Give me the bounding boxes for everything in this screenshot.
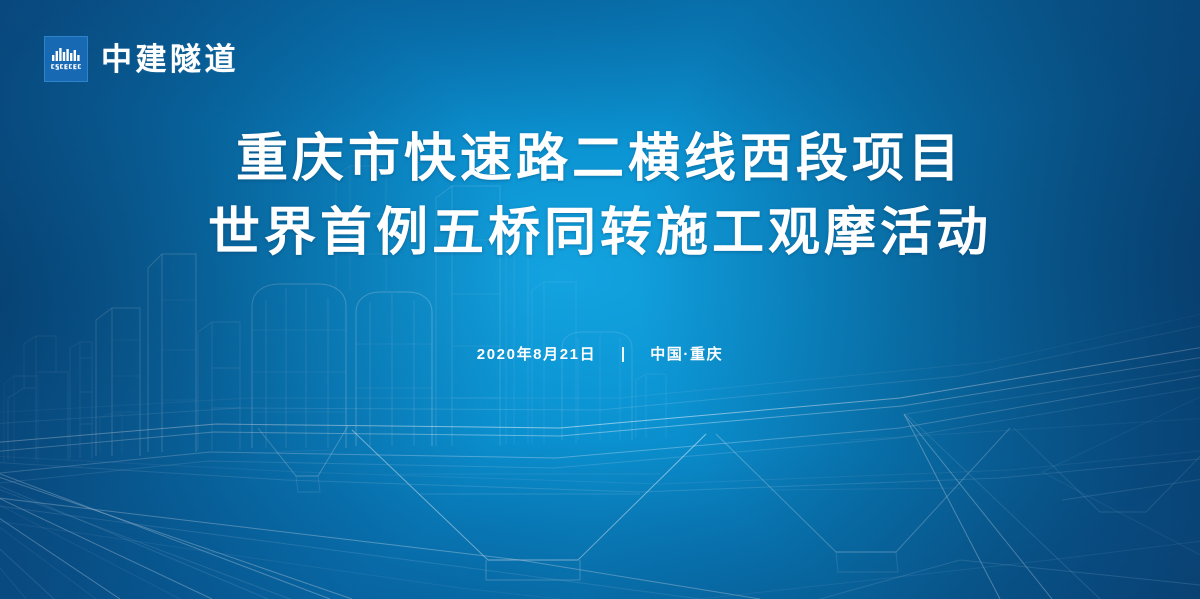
brand-logo: 中建隧道: [44, 36, 239, 82]
meta-separator: [622, 347, 624, 362]
bridge-deck-wireframe: [0, 312, 1200, 484]
cscec-logo-mark: [44, 36, 88, 82]
edge-vignette: [0, 0, 1200, 599]
event-location: 中国·重庆: [650, 347, 723, 362]
perspective-road-lines: [0, 450, 1200, 599]
wireframe-artwork: [0, 0, 1200, 599]
brand-wordmark: 中建隧道: [101, 44, 239, 75]
right-polygon-lines: [700, 368, 1200, 599]
bridge-pier-triangles: [258, 426, 1200, 580]
headline-line-2: 世界首例五桥同转施工观摩活动: [0, 200, 1200, 268]
poster-headline: 重庆市快速路二横线西段项目 世界首例五桥同转施工观摩活动: [0, 126, 1200, 267]
poster-meta: 2020年8月21日 中国·重庆: [0, 347, 1200, 362]
headline-line-1: 重庆市快速路二横线西段项目: [0, 126, 1200, 194]
poster-canvas: 中建隧道 重庆市快速路二横线西段项目 世界首例五桥同转施工观摩活动 2020年8…: [0, 0, 1200, 599]
event-date: 2020年8月21日: [477, 347, 596, 362]
